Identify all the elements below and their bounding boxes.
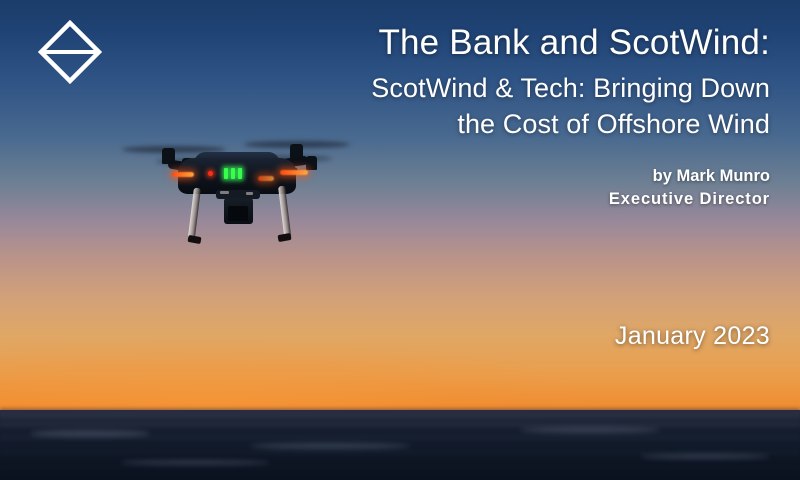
wave-foam [30,430,150,437]
presentation-slide: The Bank and ScotWind: ScotWind & Tech: … [0,0,800,480]
landing-foot-right [277,233,291,242]
slide-date: January 2023 [370,322,770,351]
landing-leg-left [188,188,201,240]
wave-foam [250,443,410,449]
wave-foam [120,460,270,465]
diamond-logo [38,20,102,84]
wave-streak [0,423,800,427]
slide-title: The Bank and ScotWind: [210,22,770,63]
author-role: Executive Director [210,188,770,211]
subtitle-line-2: the Cost of Offshore Wind [210,107,770,143]
title-block: The Bank and ScotWind: ScotWind & Tech: … [210,22,770,211]
landing-foot-left [187,235,201,244]
subtitle-line-1: ScotWind & Tech: Bringing Down [371,73,770,103]
wave-streak [0,414,800,417]
wave-streak [0,465,800,469]
led-red-left [172,172,194,177]
slide-subtitle: ScotWind & Tech: Bringing Down the Cost … [210,71,770,142]
author-name: by Mark Munro [653,167,770,185]
wave-foam [640,454,770,459]
wave-foam [520,427,660,433]
author-block: by Mark Munro Executive Director [210,165,770,212]
sea [0,410,800,480]
